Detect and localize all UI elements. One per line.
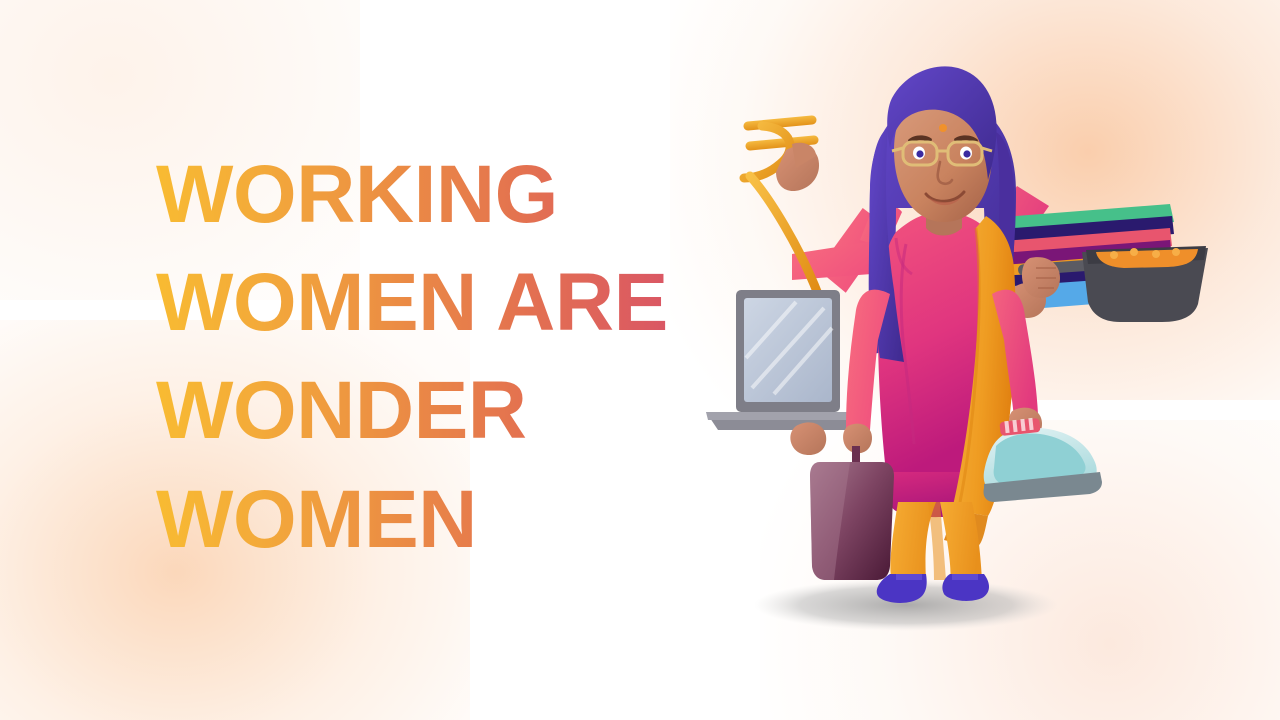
hand-upper-left [776, 143, 819, 191]
poster-canvas: WORKING WOMEN ARE WONDER WOMEN [0, 0, 1280, 720]
headline-line-2: WOMEN ARE [156, 249, 756, 357]
hand-mid-left [790, 422, 826, 455]
briefcase-icon [810, 446, 894, 580]
headline-line-4: WOMEN [156, 466, 756, 574]
headline-line-1: WORKING [156, 141, 756, 249]
bindi [939, 124, 947, 132]
laptop-icon [706, 290, 870, 430]
headline-line-3: WONDER [156, 357, 756, 465]
working-woman-illustration [700, 58, 1260, 668]
clothes-iron-icon [983, 418, 1102, 502]
legs [890, 502, 982, 580]
headline-block: WORKING WOMEN ARE WONDER WOMEN [156, 141, 756, 574]
head [887, 66, 996, 235]
